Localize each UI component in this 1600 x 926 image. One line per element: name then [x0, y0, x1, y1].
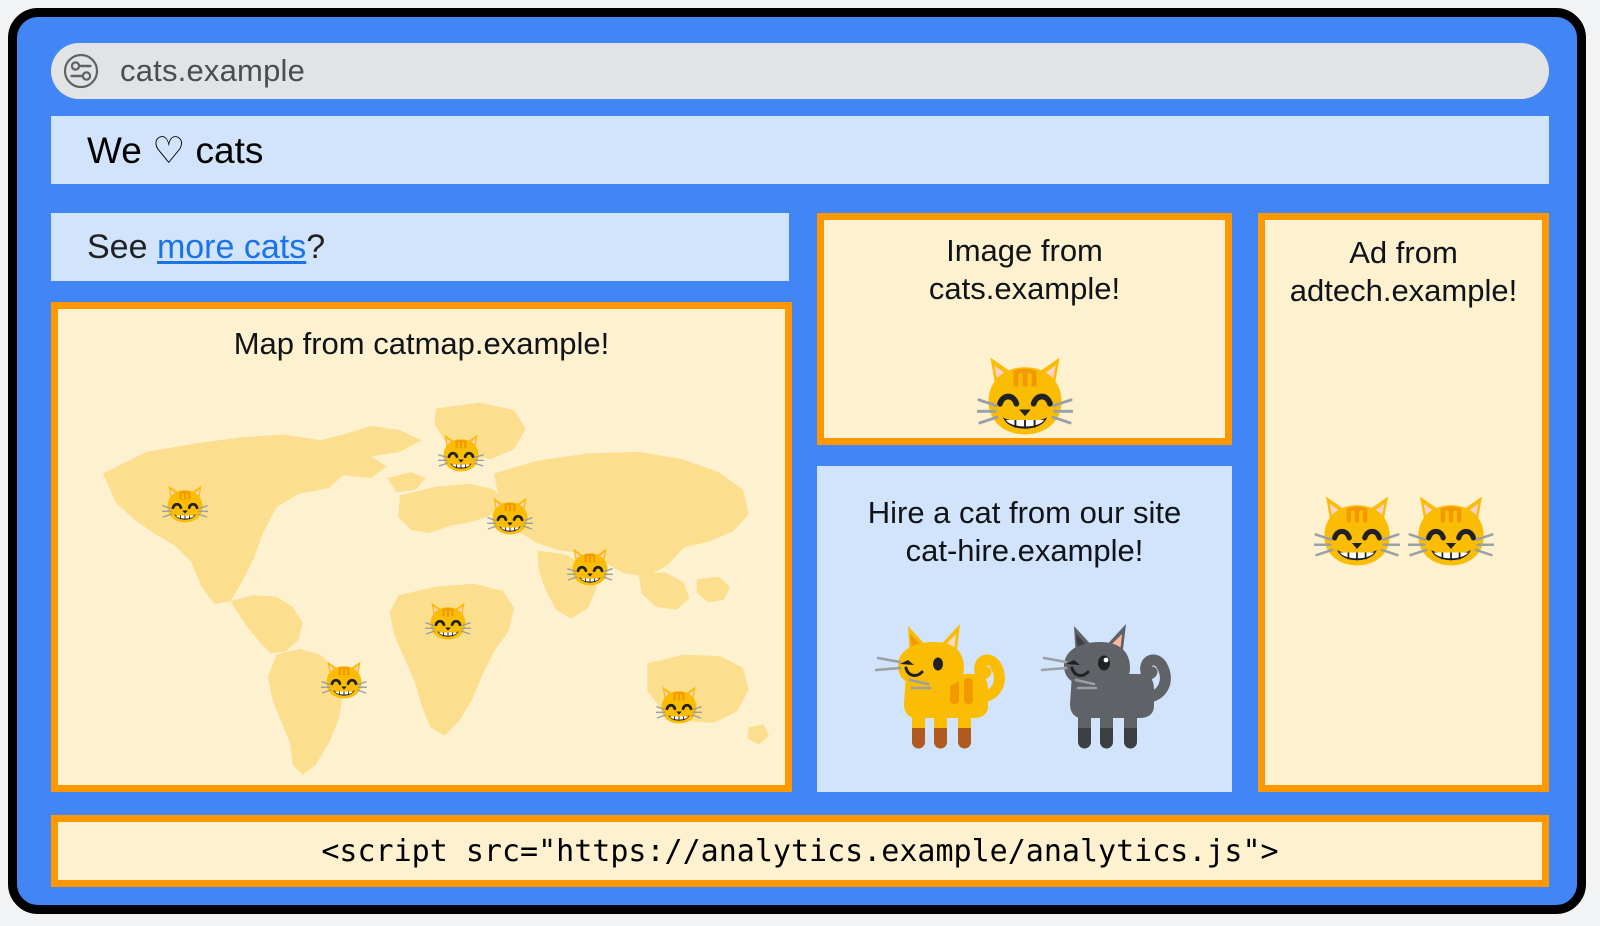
grinning-cat-icon [1314, 488, 1400, 574]
ad-panel-title: Ad from adtech.example! [1265, 234, 1542, 310]
ad-cat-images [1265, 488, 1542, 574]
link-prefix: See [87, 228, 157, 266]
more-cats-link[interactable]: more cats [157, 228, 306, 266]
orange-cat-icon [872, 602, 1012, 752]
script-tag-text: <script src="https://analytics.example/a… [321, 834, 1278, 869]
headline-banner: We ♡ cats [51, 116, 1549, 184]
map-cat-marker-central-europe[interactable] [487, 493, 533, 539]
see-more-line: See more cats? [87, 228, 325, 267]
map-cat-marker-australia[interactable] [656, 682, 702, 728]
hire-cat-images [817, 602, 1232, 752]
grey-cat-icon [1038, 602, 1178, 752]
grinning-cat-icon [1408, 488, 1494, 574]
link-suffix: ? [306, 228, 325, 266]
hire-panel[interactable]: Hire a cat from our site cat-hire.exampl… [817, 466, 1232, 792]
grinning-cat-icon [977, 348, 1073, 444]
url-bar[interactable]: cats.example [51, 43, 1549, 99]
map-panel-title: Map from catmap.example! [58, 325, 785, 363]
ad-panel[interactable]: Ad from adtech.example! [1258, 213, 1549, 792]
page-headline: We ♡ cats [87, 129, 263, 172]
map-cat-marker-north-america[interactable] [162, 481, 208, 527]
map-cat-marker-central-africa[interactable] [425, 598, 471, 644]
browser-window: cats.example We ♡ cats See more cats? Ma… [8, 8, 1586, 914]
map-cat-marker-south-asia[interactable] [567, 544, 613, 590]
url-text[interactable]: cats.example [120, 53, 305, 89]
map-cat-marker-south-america[interactable] [321, 657, 367, 703]
image-panel-title: Image from cats.example! [824, 232, 1225, 308]
tune-icon[interactable] [61, 51, 101, 91]
map-cat-marker-northern-europe[interactable] [438, 430, 484, 476]
link-banner: See more cats? [51, 213, 789, 281]
map-panel[interactable]: Map from catmap.example! [51, 302, 792, 792]
hire-panel-title: Hire a cat from our site cat-hire.exampl… [817, 494, 1232, 570]
image-panel[interactable]: Image from cats.example! [817, 213, 1232, 445]
script-bar: <script src="https://analytics.example/a… [51, 815, 1549, 887]
